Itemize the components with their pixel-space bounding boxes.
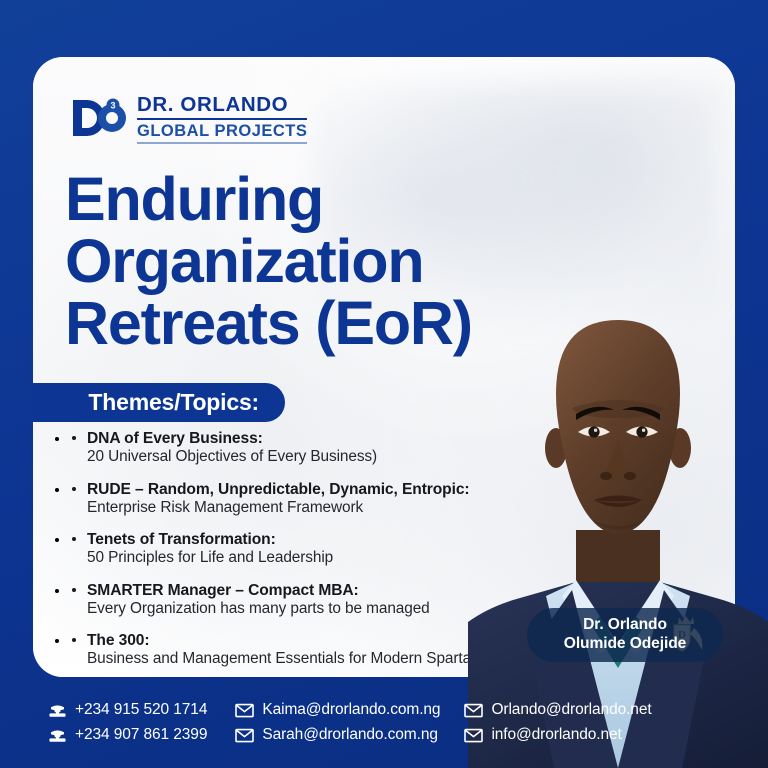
- brand-logo: 3 DR. ORLANDO GLOBAL PROJECTS: [70, 93, 307, 144]
- envelope-icon: [464, 728, 483, 743]
- bullet-dot-icon: [72, 588, 76, 592]
- email-address: Orlando@drorlando.net: [491, 701, 651, 719]
- bullet-dot-icon: [72, 436, 76, 440]
- envelope-icon: [464, 703, 483, 718]
- telephone-icon: [48, 728, 67, 743]
- brand-name-line1: DR. ORLANDO: [137, 95, 307, 116]
- email-address: Sarah@drorlando.com.ng: [262, 726, 438, 744]
- brand-divider-top: [137, 118, 307, 120]
- brand-name-line2: GLOBAL PROJECTS: [137, 123, 307, 140]
- themes-banner: Themes/Topics:: [33, 383, 285, 422]
- title-line-1: Enduring: [65, 169, 625, 231]
- email-address: Kaima@drorlando.com.ng: [262, 701, 440, 719]
- contact-footer: +234 915 520 1714 +234 907 861 2399: [0, 677, 768, 768]
- speaker-name-line1: Dr. Orlando: [583, 616, 667, 635]
- phone-number: +234 907 861 2399: [75, 726, 207, 744]
- brand-wordmark: DR. ORLANDO GLOBAL PROJECTS: [137, 93, 307, 144]
- bullet-dot-icon: [72, 537, 76, 541]
- email-column-1: Kaima@drorlando.com.ng Sarah@drorlando.c…: [235, 701, 440, 744]
- phone-column: +234 915 520 1714 +234 907 861 2399: [48, 701, 207, 744]
- do-monogram-icon: 3: [70, 96, 128, 140]
- email-column-2: Orlando@drorlando.net info@drorlando.net: [464, 701, 651, 744]
- envelope-icon: [235, 728, 254, 743]
- contact-email[interactable]: Orlando@drorlando.net: [464, 701, 651, 719]
- contact-email[interactable]: Sarah@drorlando.com.ng: [235, 726, 440, 744]
- email-address: info@drorlando.net: [491, 726, 621, 744]
- contact-email[interactable]: info@drorlando.net: [464, 726, 651, 744]
- bullet-dot-icon: [72, 487, 76, 491]
- contact-email[interactable]: Kaima@drorlando.com.ng: [235, 701, 440, 719]
- bullet-dot-icon: [72, 638, 76, 642]
- speaker-name-line2: Olumide Odejide: [564, 635, 686, 654]
- title-line-2: Organization: [65, 231, 625, 293]
- poster-canvas: 3 DR. ORLANDO GLOBAL PROJECTS Enduring O…: [0, 0, 768, 768]
- contact-phone[interactable]: +234 907 861 2399: [48, 726, 207, 744]
- brand-divider-bottom: [137, 142, 307, 144]
- envelope-icon: [235, 703, 254, 718]
- contact-phone[interactable]: +234 915 520 1714: [48, 701, 207, 719]
- telephone-icon: [48, 703, 67, 718]
- themes-banner-label: Themes/Topics:: [88, 389, 259, 416]
- phone-number: +234 915 520 1714: [75, 701, 207, 719]
- svg-text:3: 3: [110, 101, 115, 111]
- speaker-name-badge: Dr. Orlando Olumide Odejide: [527, 608, 723, 662]
